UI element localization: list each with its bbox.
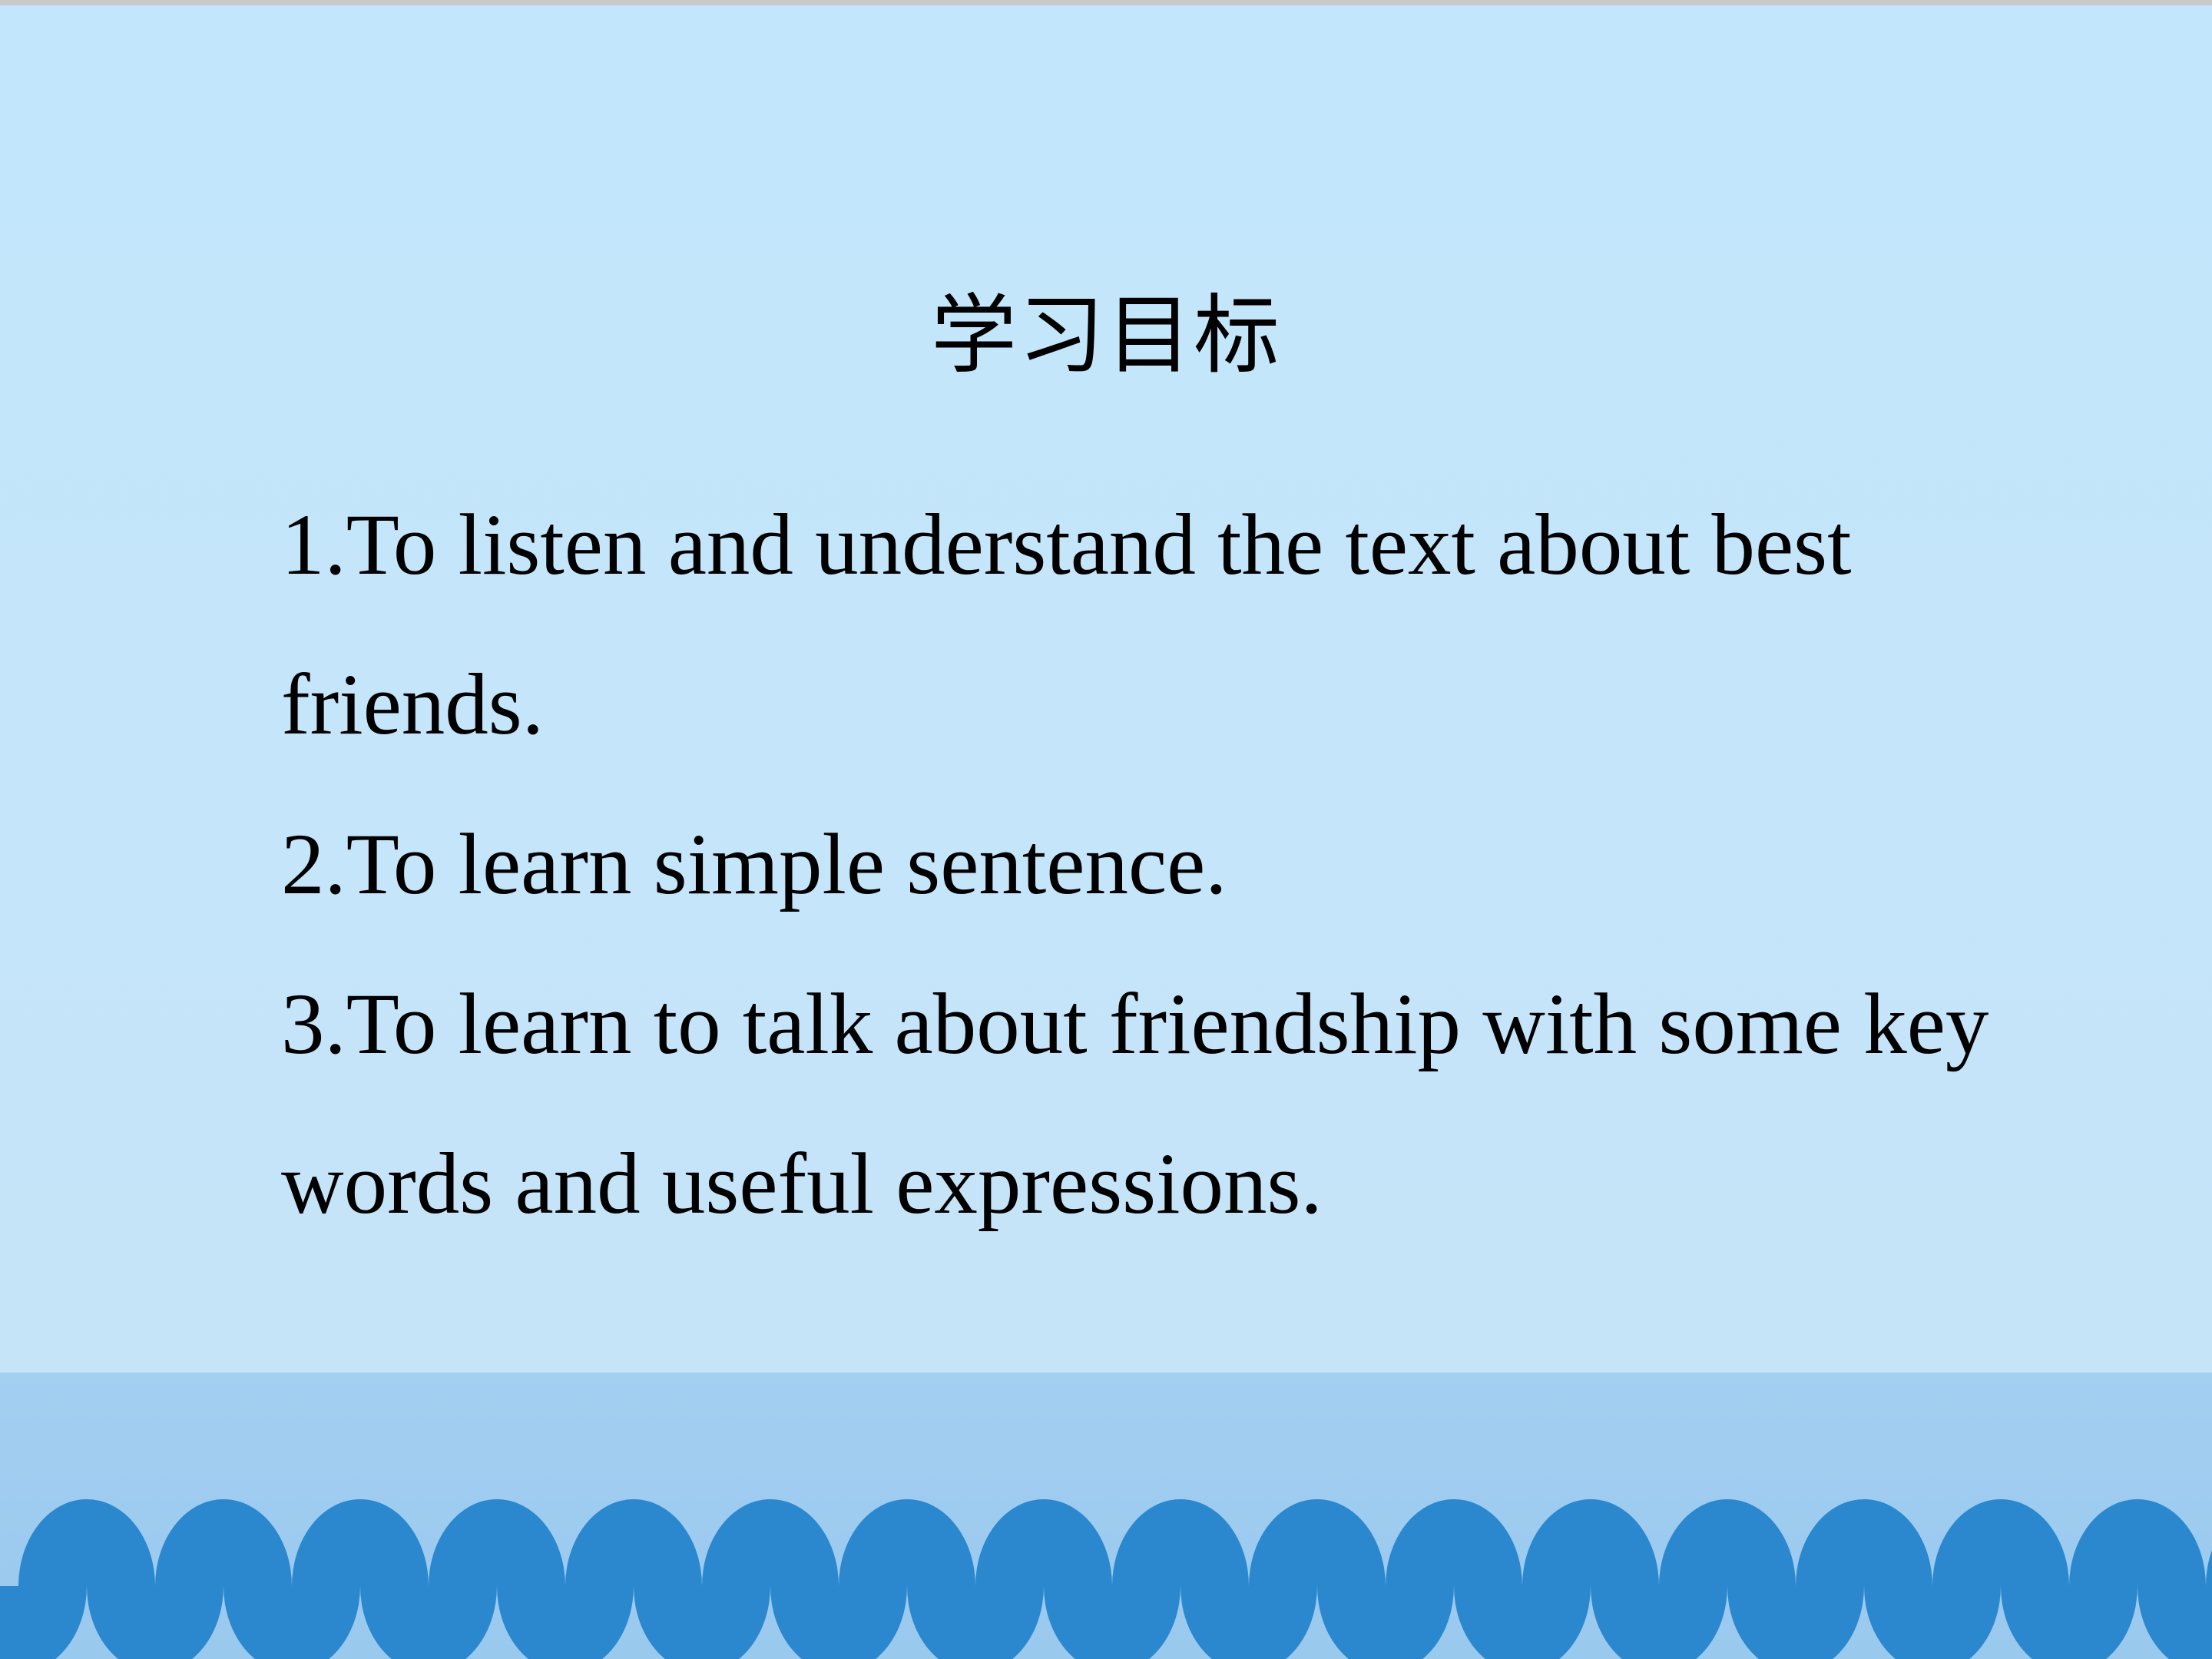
objective-line-3: 3.To learn to talk about friendship with… [281,945,2048,1104]
slide-canvas: 学习目标 1.To listen and understand the text… [0,0,2212,1659]
objective-line-1: 1.To listen and understand the text abou… [281,465,2048,625]
objective-line-2: 2.To learn simple sentence. [281,785,2048,945]
objectives-list: 1.To listen and understand the text abou… [281,465,2048,1264]
scallop-circle-group-2 [0,1586,2212,1659]
top-edge-strip [0,0,2212,5]
objective-line-1-cont: friends. [281,625,2048,785]
objective-line-3-cont: words and useful expressions. [281,1104,2048,1264]
page-title: 学习目标 [0,287,2212,383]
scallop-circle-group-1 [18,1499,2212,1586]
scallop-decoration-row-1 [0,1499,2212,1586]
scallop-decoration-row-2 [0,1586,2212,1659]
